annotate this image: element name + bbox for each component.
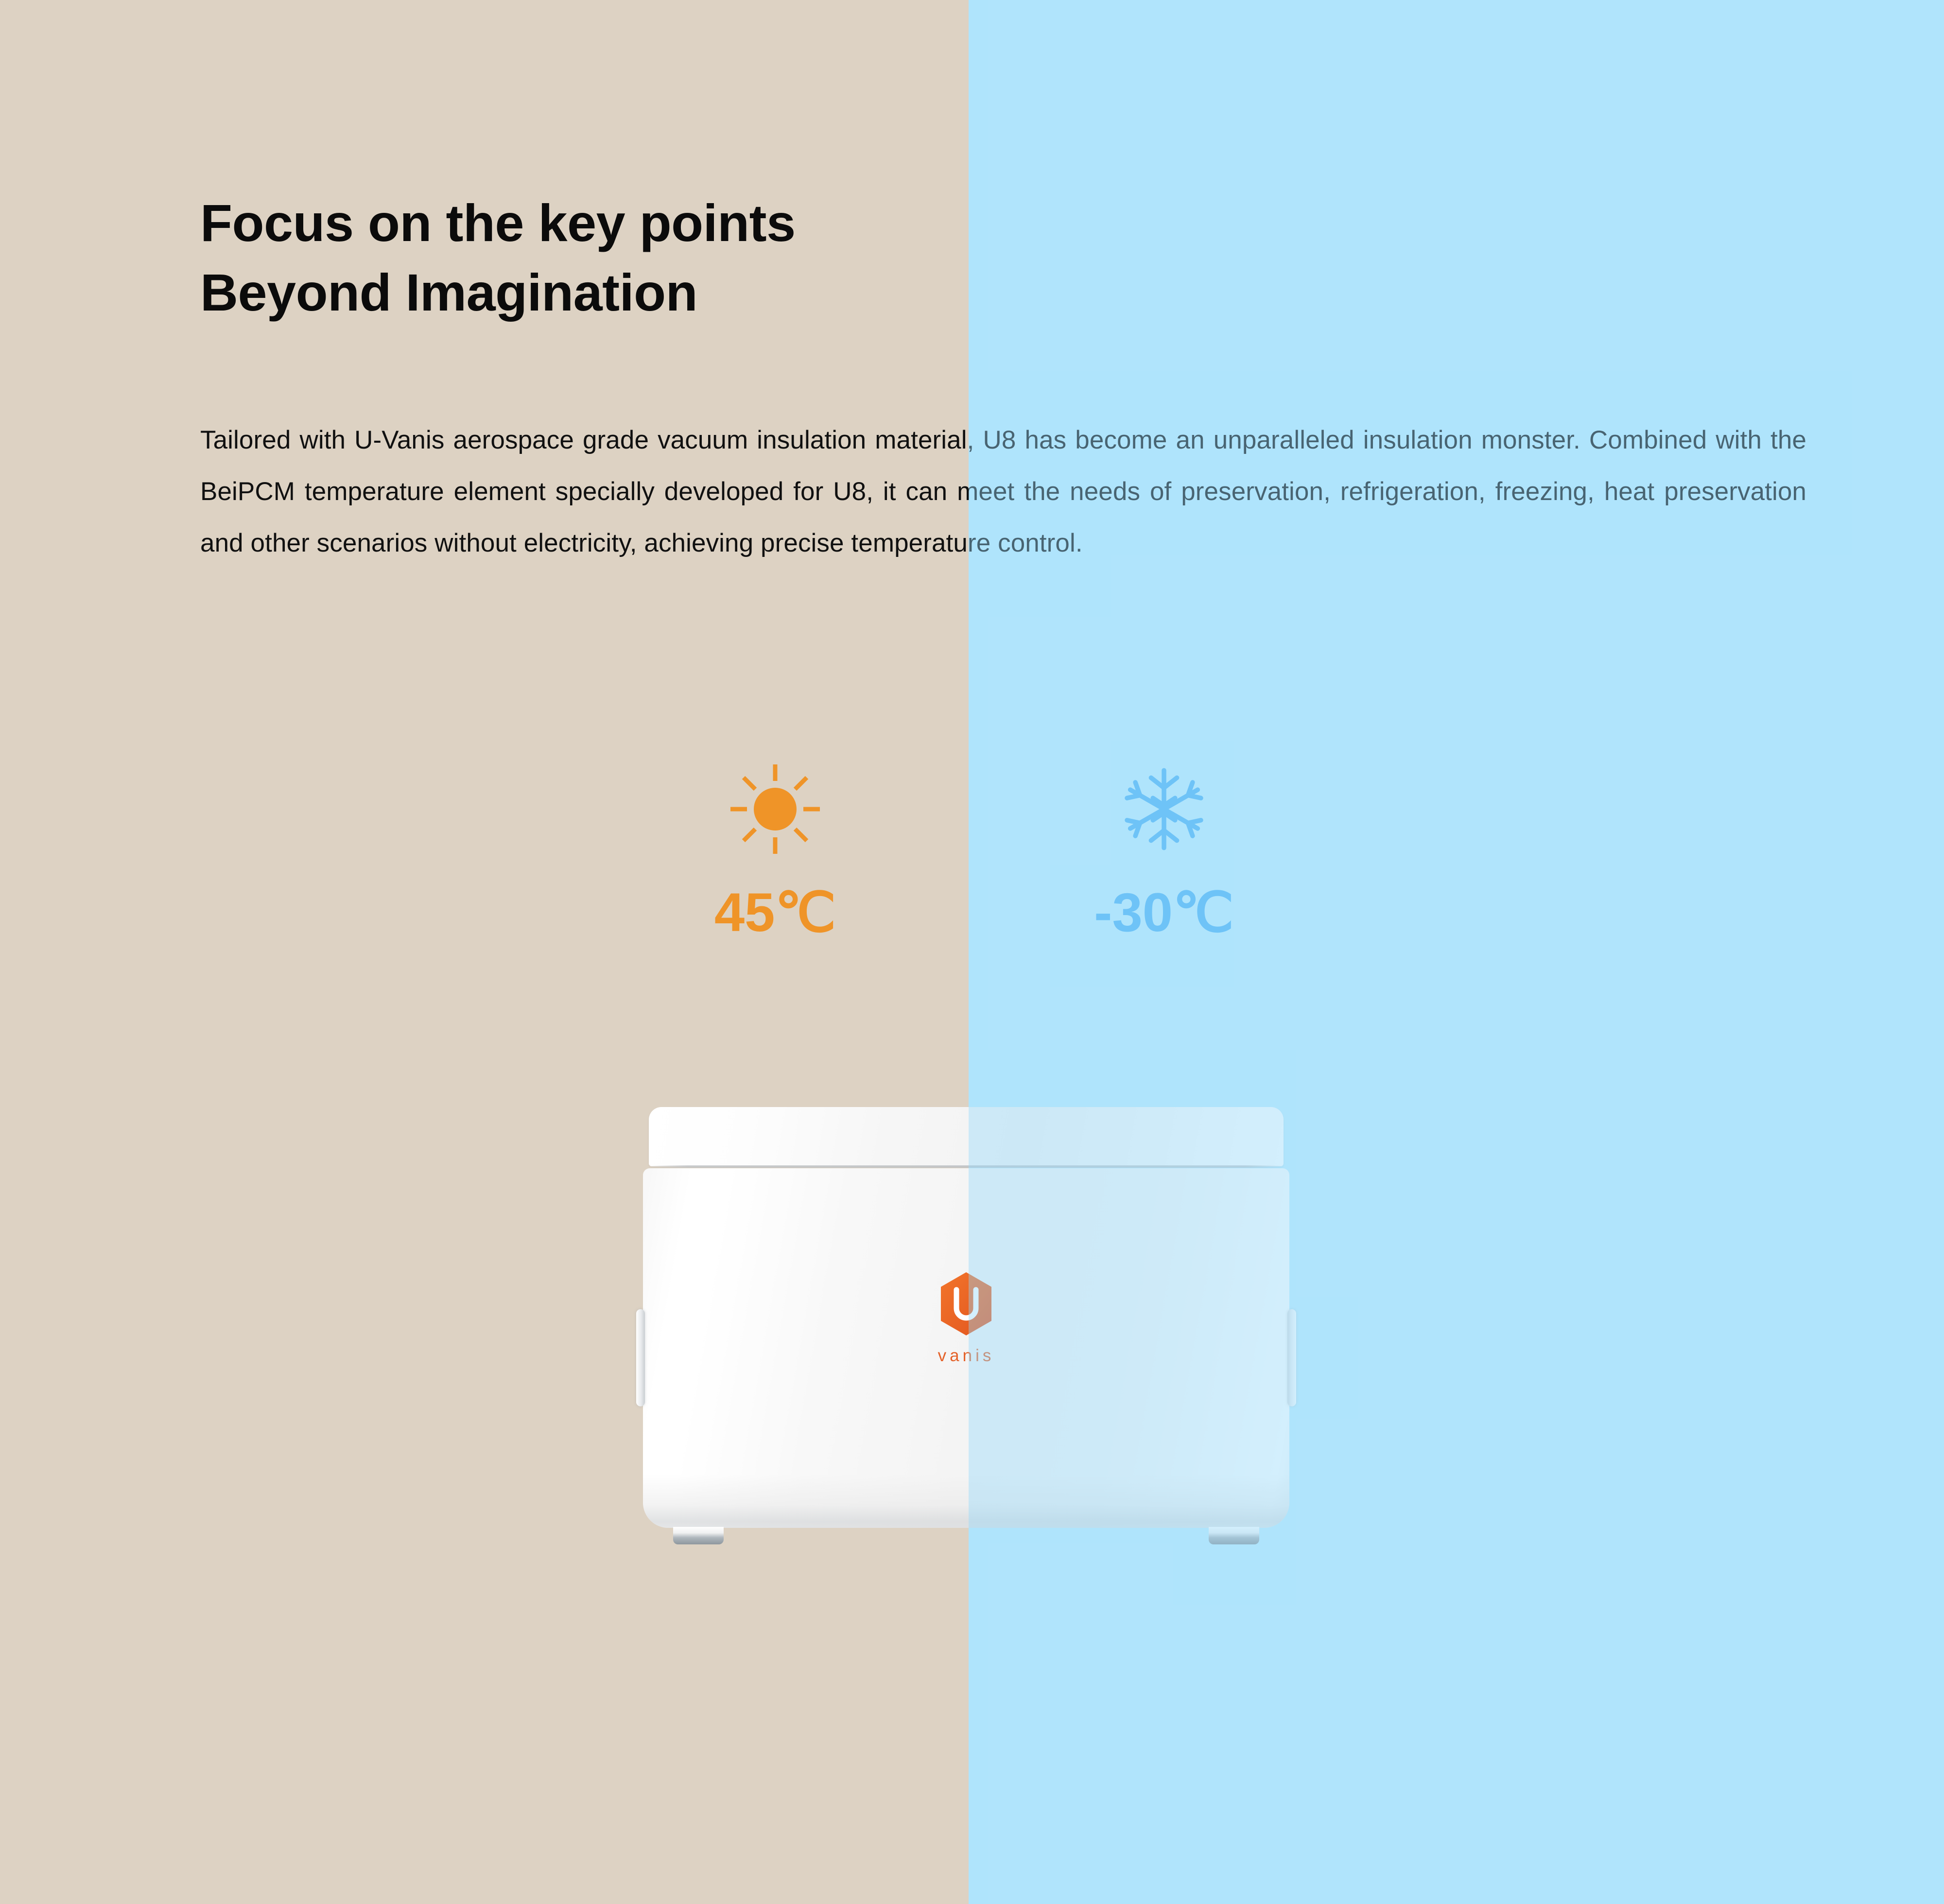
description-paragraph: Tailored with U-Vanis aerospace grade va… — [200, 415, 1806, 569]
snowflake-icon — [1028, 758, 1300, 860]
cooler-handle-left — [636, 1309, 645, 1406]
cooler-foot-left — [673, 1527, 724, 1544]
temperature-value-cold: -30℃ — [1028, 885, 1300, 940]
temperature-value-hot: 45℃ — [639, 885, 911, 940]
brand-logo: vanis — [893, 1271, 1039, 1366]
cooler-lid — [649, 1107, 1284, 1166]
product-cooler-box: vanis — [643, 1107, 1289, 1554]
temperature-range-group: 45℃ — [0, 758, 1944, 1001]
cooler-base-shadow — [643, 1474, 1289, 1528]
cooler-body: vanis — [643, 1168, 1289, 1528]
brand-name-text: vanis — [893, 1346, 1039, 1366]
cooler-handle-right — [1287, 1309, 1296, 1406]
cooler-foot-right — [1209, 1527, 1259, 1544]
sun-icon — [639, 758, 911, 860]
cooler-lid-seam — [649, 1165, 1284, 1168]
temperature-item-hot: 45℃ — [639, 758, 911, 940]
page-title: Focus on the key points Beyond Imaginati… — [200, 189, 1755, 327]
temperature-item-cold: -30℃ — [1028, 758, 1300, 940]
promo-banner: Focus on the key points Beyond Imaginati… — [0, 0, 1944, 1904]
hexagon-u-logo-icon — [937, 1271, 995, 1336]
